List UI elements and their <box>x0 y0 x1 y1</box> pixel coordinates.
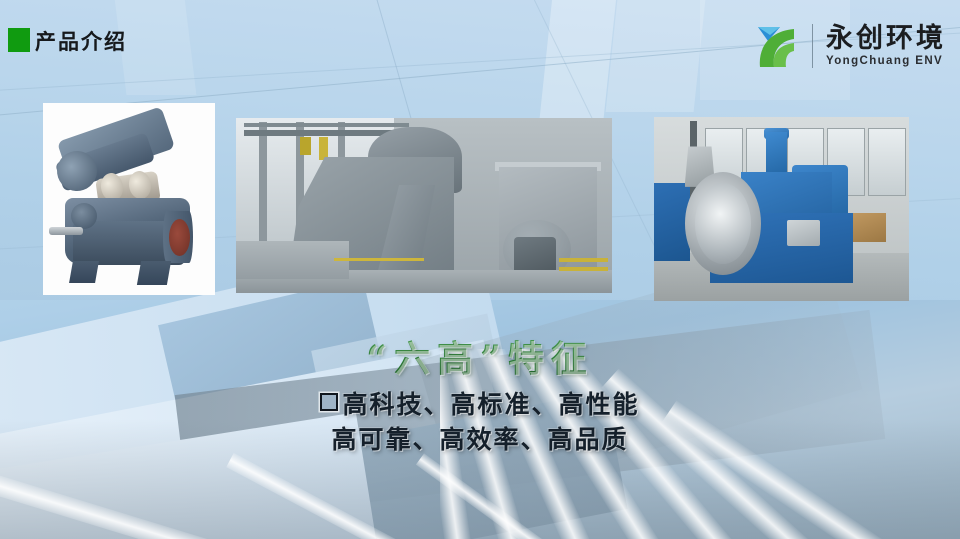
page-title: 产品介绍 <box>35 26 127 56</box>
product-photo-plant-equipment <box>236 118 612 293</box>
logo-wordmark: 永创环境 YongChuang ENV <box>826 25 946 66</box>
brand-logo: 永创环境 YongChuang ENV <box>750 18 946 74</box>
feature-bullets: 高科技、高标准、高性能 高可靠、高效率、高品质 <box>0 388 960 457</box>
product-photo-pump-cutaway <box>43 103 215 295</box>
logo-name-cn: 永创环境 <box>826 25 946 53</box>
feature-headline: “六高”特征 <box>0 330 960 382</box>
bullet-square-icon <box>320 393 338 411</box>
header-accent-chip <box>8 28 30 52</box>
logo-leaf-icon <box>750 21 802 71</box>
logo-name-en: YongChuang ENV <box>826 55 946 67</box>
feature-bullet-line-1: 高科技、高标准、高性能 <box>342 390 639 419</box>
slide: 产品介绍 永创环境 YongChuang ENV <box>0 0 960 539</box>
slide-header: 产品介绍 永创环境 YongChuang ENV <box>0 0 960 74</box>
logo-divider <box>812 24 813 68</box>
feature-bullet-line-2: 高可靠、高效率、高品质 <box>0 423 960 458</box>
product-photo-blue-pump-unit <box>654 117 909 301</box>
